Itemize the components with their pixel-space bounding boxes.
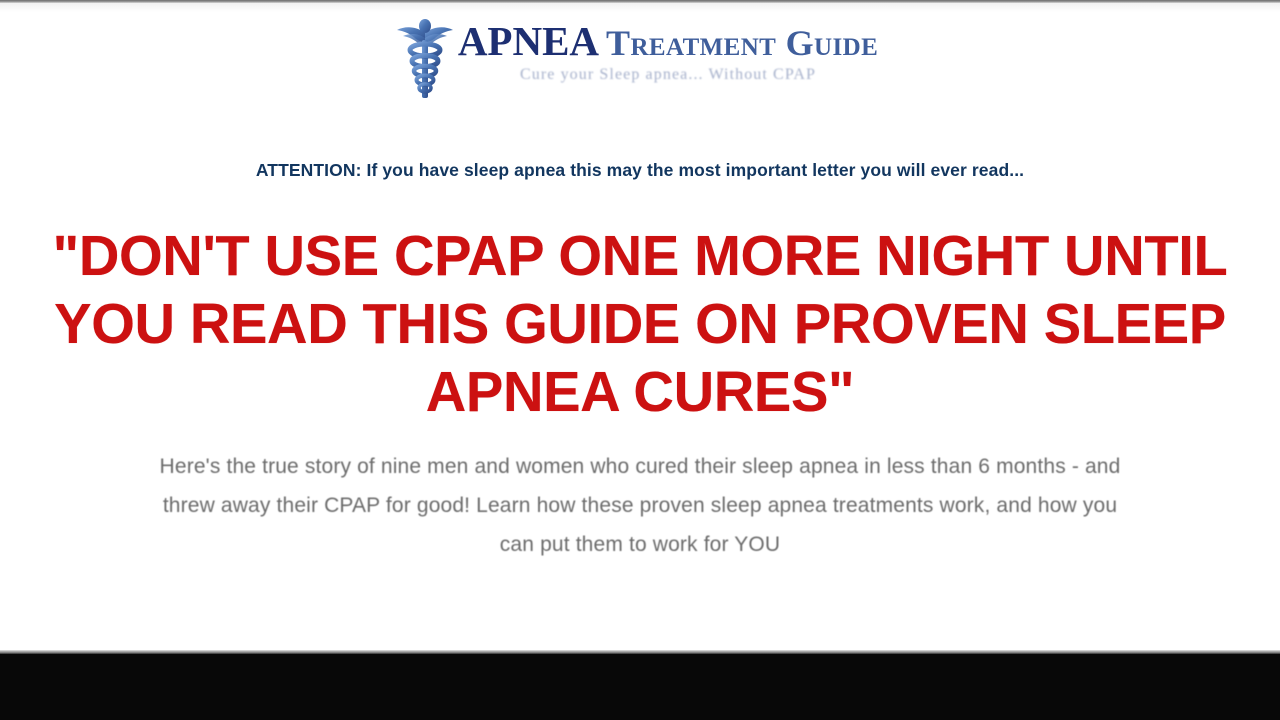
caduceus-icon [394, 16, 456, 102]
page-content-area: APNEATreatment Guide Cure your Sleep apn… [0, 0, 1280, 653]
attention-line: ATTENTION: If you have sleep apnea this … [0, 160, 1280, 181]
brand-name-row: APNEATreatment Guide [458, 20, 878, 63]
headline-line-1: "DON'T USE CPAP ONE MORE NIGHT UNTIL [10, 222, 1271, 290]
headline-line-3: APNEA CURES" [10, 358, 1271, 426]
body-line-1: Here's the true story of nine men and wo… [22, 447, 1258, 486]
brand-name-primary: APNEA [458, 18, 599, 64]
subheadline-paragraph: Here's the true story of nine men and wo… [22, 447, 1258, 564]
brand-logo[interactable]: APNEATreatment Guide Cure your Sleep apn… [394, 14, 878, 102]
brand-name-secondary: Treatment Guide [606, 23, 878, 63]
site-header: APNEATreatment Guide Cure your Sleep apn… [0, 12, 1280, 104]
brand-wordmark: APNEATreatment Guide Cure your Sleep apn… [458, 20, 878, 84]
page-headline: "DON'T USE CPAP ONE MORE NIGHT UNTIL YOU… [10, 222, 1271, 426]
headline-line-2: YOU READ THIS GUIDE ON PROVEN SLEEP [10, 290, 1271, 358]
brand-tagline: Cure your Sleep apnea... Without CPAP [520, 66, 816, 84]
bottom-letterbox-bar [0, 654, 1280, 720]
body-line-3: can put them to work for YOU [22, 525, 1258, 564]
body-line-2: threw away their CPAP for good! Learn ho… [22, 486, 1258, 525]
sales-page: APNEATreatment Guide Cure your Sleep apn… [0, 0, 1280, 720]
